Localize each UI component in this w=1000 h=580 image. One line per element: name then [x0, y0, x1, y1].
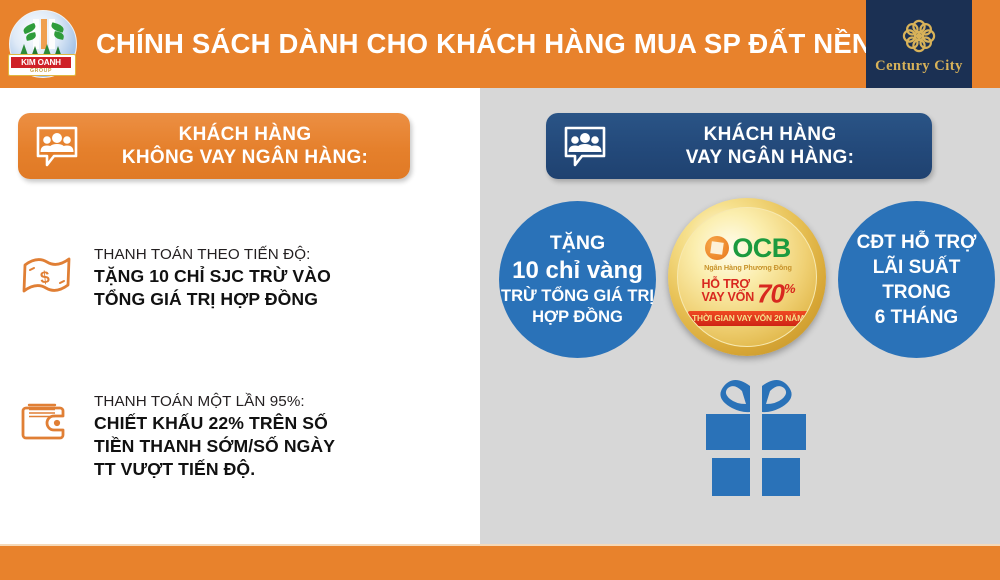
- left-item-2-text: THANH TOÁN MỘT LẦN 95%: CHIẾT KHẤU 22% T…: [94, 392, 404, 481]
- left-item-1-lead: THANH TOÁN THEO TIẾN ĐỘ:: [94, 245, 404, 265]
- circle-left-line1: TẶNG: [550, 231, 605, 256]
- left-banner-line1: KHÁCH HÀNG: [179, 124, 312, 145]
- left-banner-text: KHÁCH HÀNG KHÔNG VAY NGÂN HÀNG:: [90, 123, 400, 169]
- ocb-tagline: Ngân Hàng Phương Đông: [678, 263, 817, 272]
- circle-right-line2: LÃI SUẤT: [873, 255, 961, 280]
- left-item-1-body-line1: TẶNG 10 CHỈ SJC TRỪ VÀO: [94, 265, 404, 288]
- ocb-ribbon-text: THỜI GIAN VAY VỐN 20 NĂM: [688, 311, 808, 326]
- benefit-circle-gold-gift: TẶNG 10 chỉ vàng TRỪ TỔNG GIÁ TRỊ HỢP ĐỒ…: [499, 201, 656, 358]
- ocb-mark-icon: [705, 236, 729, 260]
- kim-oanh-name-plate: KIM OANH GROUP: [8, 54, 76, 76]
- benefit-circle-interest-support: CĐT HỖ TRỢ LÃI SUẤT TRONG 6 THÁNG: [838, 201, 995, 358]
- ocb-percent-value: 70%: [757, 276, 794, 307]
- right-section-banner: KHÁCH HÀNG VAY NGÂN HÀNG:: [546, 113, 932, 179]
- ocb-support-line2: VAY VỐN: [701, 290, 754, 304]
- ocb-brand-text: OCB: [732, 236, 790, 260]
- left-banner-line2: KHÔNG VAY NGÂN HÀNG:: [122, 147, 368, 168]
- circle-right-line4: 6 THÁNG: [875, 305, 958, 330]
- people-speech-bubble-icon: [562, 123, 608, 169]
- right-banner-line1: KHÁCH HÀNG: [704, 124, 837, 145]
- ocb-support-text: HỖ TRỢ VAY VỐN: [701, 278, 754, 304]
- left-section-banner: KHÁCH HÀNG KHÔNG VAY NGÂN HÀNG:: [18, 113, 410, 179]
- ocb-percent-number: 70: [757, 279, 784, 309]
- left-item-2-body-line2: TIỀN THANH SỚM/SỐ NGÀY: [94, 435, 404, 458]
- header-bar: KIM OANH GROUP CHÍNH SÁCH DÀNH CHO KHÁCH…: [0, 0, 1000, 88]
- people-speech-bubble-icon: [34, 123, 80, 169]
- ocb-badge-inner: OCB Ngân Hàng Phương Đông HỖ TRỢ VAY VỐN…: [677, 207, 817, 347]
- slide-root: KIM OANH GROUP CHÍNH SÁCH DÀNH CHO KHÁCH…: [0, 0, 1000, 580]
- circle-left-line2: 10 chỉ vàng: [512, 256, 643, 286]
- circle-right-line1: CĐT HỖ TRỢ: [857, 230, 977, 255]
- left-item-2-body-line1: CHIẾT KHẤU 22% TRÊN SỐ: [94, 412, 404, 435]
- footer-bar: [0, 546, 1000, 580]
- circle-left-line3: TRỪ TỔNG GIÁ TRỊ: [501, 286, 654, 307]
- left-item-2-body-line3: TT VƯỢT TIẾN ĐỘ.: [94, 458, 404, 481]
- bamboo-leaf-icon: [53, 31, 64, 40]
- left-item-1-body-line2: TỔNG GIÁ TRỊ HỢP ĐỒNG: [94, 288, 404, 311]
- kim-oanh-name: KIM OANH: [11, 57, 71, 68]
- ocb-percent-symbol: %: [784, 281, 795, 296]
- banknote-dollar-icon: $: [18, 249, 76, 301]
- kim-oanh-group-logo: KIM OANH GROUP: [6, 8, 78, 80]
- kim-oanh-sub: GROUP: [11, 68, 71, 74]
- circle-right-line3: TRONG: [882, 280, 951, 305]
- gift-box-icon: [700, 374, 812, 498]
- svg-text:$: $: [39, 268, 51, 288]
- century-city-flower-emblem: [899, 16, 939, 56]
- wallet-icon: [18, 396, 76, 448]
- circle-left-line4: HỢP ĐỒNG: [532, 307, 623, 328]
- left-item-2-lead: THANH TOÁN MỘT LẦN 95%:: [94, 392, 404, 412]
- century-city-logo: Century City: [866, 0, 972, 88]
- ocb-logo-row: OCB: [678, 236, 817, 260]
- right-banner-text: KHÁCH HÀNG VAY NGÂN HÀNG:: [618, 123, 922, 169]
- right-banner-line2: VAY NGÂN HÀNG:: [686, 147, 855, 168]
- ocb-bank-badge: OCB Ngân Hàng Phương Đông HỖ TRỢ VAY VỐN…: [668, 198, 826, 356]
- century-city-name: Century City: [866, 58, 972, 75]
- left-item-1-text: THANH TOÁN THEO TIẾN ĐỘ: TẶNG 10 CHỈ SJC…: [94, 245, 404, 311]
- page-title: CHÍNH SÁCH DÀNH CHO KHÁCH HÀNG MUA SP ĐẤ…: [96, 22, 836, 66]
- ocb-support-row: HỖ TRỢ VAY VỐN 70%: [678, 276, 817, 307]
